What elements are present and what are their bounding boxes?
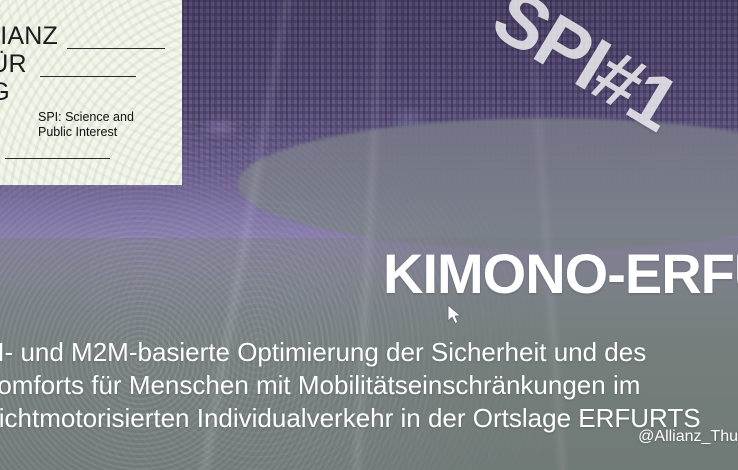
slide-subtitle-line-3: Nichtmotorisierten Individualverkehr in … bbox=[0, 402, 738, 435]
logo-wordmark-line-3: NG bbox=[0, 78, 182, 106]
presentation-slide: LLIANZ HÜR NG SPI: Science and Public In… bbox=[0, 0, 738, 470]
logo-panel-subtitle: SPI: Science and Public Interest bbox=[38, 110, 178, 140]
logo-divider-rule-2 bbox=[40, 76, 136, 77]
slide-subtitle-line-1: KI- und M2M-basierte Optimierung der Sic… bbox=[0, 336, 738, 369]
logo-divider-rule-1 bbox=[67, 48, 165, 49]
slide-title: KIMONO-ERFURT bbox=[383, 241, 738, 306]
slide-subtitle-line-2: Komforts für Menschen mit Mobilitätseins… bbox=[0, 369, 738, 402]
logo-panel-subtitle-line-2: Public Interest bbox=[38, 125, 178, 140]
social-handle: @Allianz_Thu bbox=[638, 428, 738, 446]
logo-panel-subtitle-line-1: SPI: Science and bbox=[38, 110, 178, 125]
logo-divider-rule-3 bbox=[5, 158, 110, 159]
logo-wordmark-line-2: HÜR bbox=[0, 50, 182, 78]
logo-wordmark: LLIANZ HÜR NG bbox=[0, 22, 182, 106]
slide-subtitle: KI- und M2M-basierte Optimierung der Sic… bbox=[0, 336, 738, 435]
logo-wordmark-line-1: LLIANZ bbox=[0, 22, 182, 50]
organisation-logo-panel: LLIANZ HÜR NG SPI: Science and Public In… bbox=[0, 0, 182, 185]
